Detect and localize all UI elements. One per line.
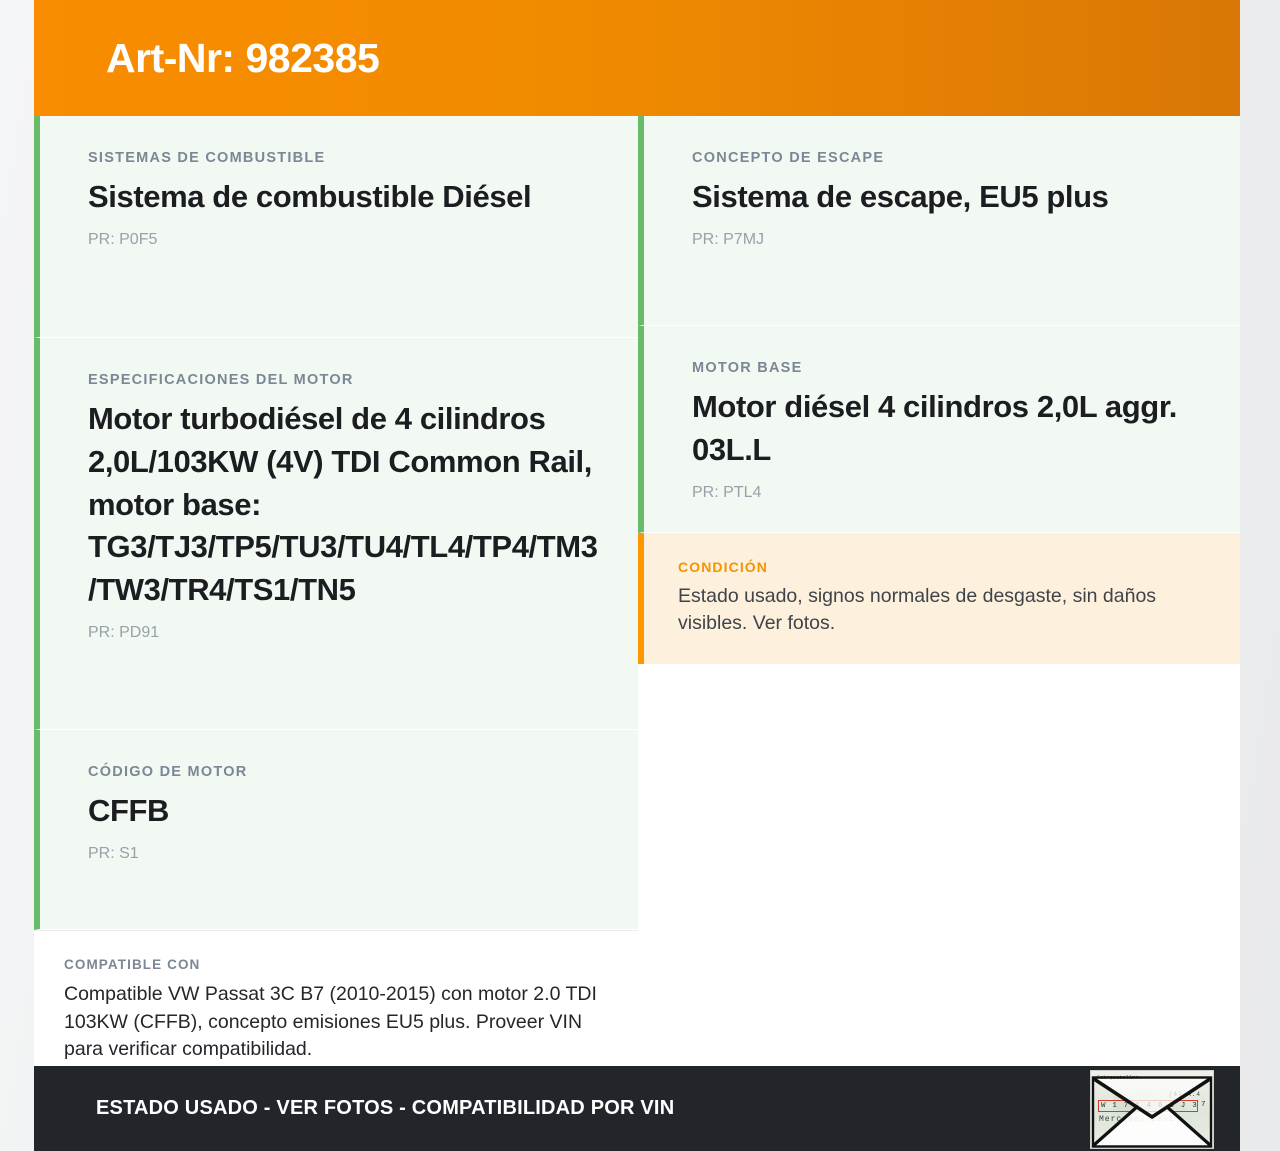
envelope-icon [1091,1071,1213,1148]
spec-card-fuel-system: SISTEMAS DE COMBUSTIBLE Sistema de combu… [34,116,638,338]
spec-label: SISTEMAS DE COMBUSTIBLE [88,150,598,166]
compatibility-block: COMPATIBLE CON Compatible VW Passat 3C B… [34,930,638,1088]
spec-label: CONCEPTO DE ESCAPE [692,150,1200,166]
spec-pr-code: PR: S1 [88,845,598,863]
spec-label: MOTOR BASE [692,360,1200,376]
article-number-title: Art-Nr: 982385 [106,35,379,82]
sheet-container: Art-Nr: 982385 SISTEMAS DE COMBUSTIBLE S… [34,0,1240,1151]
spec-pr-code: PR: P0F5 [88,231,598,249]
spec-pr-code: PR: PD91 [88,624,598,642]
spec-label: CÓDIGO DE MOTOR [88,764,598,780]
condition-card: CONDICIÓN Estado usado, signos normales … [638,533,1240,664]
spec-value: Motor diésel 4 cilindros 2,0L aggr. 03L.… [692,386,1200,472]
condition-label: CONDICIÓN [678,559,1200,575]
header-bar: Art-Nr: 982385 [34,0,1240,116]
right-column: CONCEPTO DE ESCAPE Sistema de escape, EU… [638,116,1240,1066]
compatibility-label: COMPATIBLE CON [64,957,598,972]
spec-card-exhaust-concept: CONCEPTO DE ESCAPE Sistema de escape, EU… [638,116,1240,326]
vehicle-document-thumbnail: Fahrgestellnr. (4) A.4 W 1 7 1 4 6 3 J 3… [1090,1070,1214,1149]
spec-columns: SISTEMAS DE COMBUSTIBLE Sistema de combu… [34,116,1240,1066]
spec-label: ESPECIFICACIONES DEL MOTOR [88,372,598,388]
footer-bar: ESTADO USADO - VER FOTOS - COMPATIBILIDA… [34,1066,1240,1151]
spec-value: Sistema de combustible Diésel [88,176,598,219]
spec-card-engine-specs: ESPECIFICACIONES DEL MOTOR Motor turbodi… [34,338,638,730]
spec-value: Motor turbodiésel de 4 cilindros 2,0L/10… [88,398,598,612]
product-spec-sheet: Art-Nr: 982385 SISTEMAS DE COMBUSTIBLE S… [0,0,1280,1151]
spec-card-motor-base: MOTOR BASE Motor diésel 4 cilindros 2,0L… [638,326,1240,533]
left-column: SISTEMAS DE COMBUSTIBLE Sistema de combu… [34,116,638,1066]
footer-notice: ESTADO USADO - VER FOTOS - COMPATIBILIDA… [96,1097,674,1120]
compatibility-text: Compatible VW Passat 3C B7 (2010-2015) c… [64,981,598,1064]
spec-card-engine-code: CÓDIGO DE MOTOR CFFB PR: S1 [34,730,638,930]
spec-value: CFFB [88,790,598,833]
spec-pr-code: PR: PTL4 [692,484,1200,502]
spec-pr-code: PR: P7MJ [692,231,1200,249]
condition-text: Estado usado, signos normales de desgast… [678,583,1200,638]
spec-value: Sistema de escape, EU5 plus [692,176,1200,219]
right-column-filler [638,664,1240,1066]
